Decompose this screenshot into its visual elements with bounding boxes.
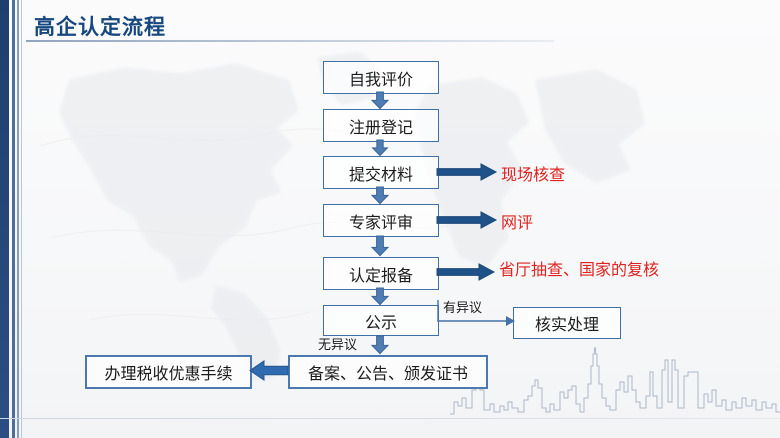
branch-label-objection: 有异议 [443,297,482,316]
down-arrow-1 [371,92,389,109]
right-arrow-provincial-spotcheck [437,264,495,280]
down-arrow-4 [371,236,389,256]
slide-canvas: 高企认定流程 自我评价 注册登记 提交材料 专家评审 认定报备 公示 核实处理 … [0,0,780,438]
down-arrow-2 [371,140,389,156]
flow-box-tax-benefit-procedure[interactable]: 办理税收优惠手续 [85,355,252,389]
flow-box-label: 备案、公告、颁发证书 [308,360,468,384]
flow-box-label: 核实处理 [535,311,599,335]
annotation-provincial-recheck: 省厅抽查、国家的复核 [499,256,659,280]
left-accent-bar-primary [0,0,9,438]
right-arrow-site-inspection [437,164,497,180]
flow-box-self-evaluation[interactable]: 自我评价 [323,61,439,94]
flow-box-label: 专家评审 [349,209,413,233]
flow-box-label: 办理税收优惠手续 [104,360,232,384]
flow-box-verification-handling[interactable]: 核实处理 [513,307,621,339]
bottom-divider [0,418,780,419]
branch-label-no-objection: 无异议 [318,334,357,353]
flow-box-label: 注册登记 [349,114,413,138]
flow-box-label: 公示 [365,309,397,333]
flow-box-submit-materials[interactable]: 提交材料 [323,156,439,189]
right-arrow-online-review [437,212,497,228]
left-accent-bar-tertiary [17,0,19,438]
flow-box-certification-filing[interactable]: 认定报备 [323,257,439,290]
header-divider [26,40,554,42]
flow-box-registration[interactable]: 注册登记 [323,109,439,142]
annotation-online-review: 网评 [501,209,533,233]
flow-box-label: 认定报备 [349,262,413,286]
left-accent-bar-quaternary [21,0,22,438]
page-title: 高企认定流程 [34,11,166,41]
flow-box-label: 自我评价 [349,66,413,90]
flow-box-record-announce-certificate[interactable]: 备案、公告、颁发证书 [288,355,488,389]
annotation-site-inspection: 现场核查 [501,161,565,185]
flow-box-label: 提交材料 [349,161,413,185]
flow-box-expert-review[interactable]: 专家评审 [323,204,439,237]
left-accent-bar-secondary [12,0,15,438]
flow-box-public-announcement[interactable]: 公示 [323,305,439,336]
city-skyline-watermark [450,346,780,416]
left-arrow-to-tax-procedure [250,361,288,380]
down-arrow-5 [371,288,389,305]
down-arrow-no-objection [371,336,389,354]
down-arrow-3 [371,187,389,204]
